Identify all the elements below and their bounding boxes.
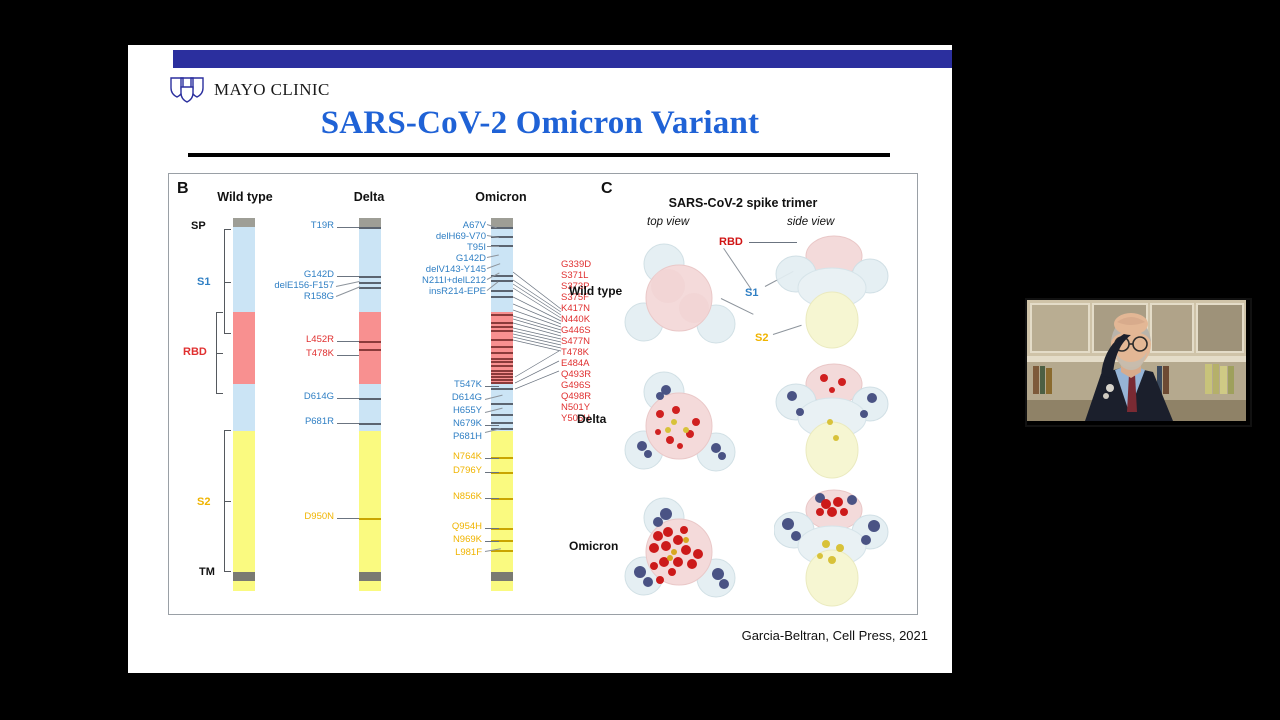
mayo-shield-icon [168,75,206,105]
segment-s1a [233,227,255,312]
mutation-tick [359,423,381,425]
delta-mutation-label: D950N [277,512,334,522]
mutation-tick [491,388,513,390]
mutation-tick [491,414,513,416]
mutation-tick [491,339,513,341]
mutation-tick [359,349,381,351]
mutation-tick [491,322,513,324]
omicron-spike-bar [491,218,513,618]
delta-mutation-label: delE156-F157 [241,281,334,291]
trimer-delta-side [774,360,889,482]
row-label-wildtype: Wild type [569,284,622,298]
bracket-s2 [224,430,225,572]
omicron-mutation-label: D796Y [422,466,482,476]
omicron-mutation-label: delV143-Y145 [391,265,486,275]
citation: Garcia-Beltran, Cell Press, 2021 [128,628,928,643]
delta-mutation-label: T478K [281,349,334,359]
omicron-mutation-label: H655Y [422,406,482,416]
bracket-s1 [224,229,225,334]
mutation-tick [491,290,513,292]
segment-tm [359,572,381,581]
mutation-tick [359,287,381,289]
domain-label-tm: TM [199,566,215,578]
webcam-video [1027,300,1246,421]
segment-rbd [233,312,255,384]
wildtype-spike-bar [233,218,255,618]
annotation-s1: S1 [745,287,758,299]
domain-label-s1: S1 [197,276,210,288]
segment-sp [359,218,381,227]
mutation-tick [359,341,381,343]
delta-mutation-label: D614G [279,392,334,402]
segment-ct [359,581,381,591]
mutation-tick [359,398,381,400]
panel-b-label: B [177,180,189,198]
mayo-clinic-logo: MAYO CLINIC [168,75,330,105]
trimer-wildtype-top [624,242,744,350]
mutation-tick [491,296,513,298]
delta-mutation-label: T19R [274,221,334,231]
page-title: SARS-CoV-2 Omicron Variant [128,105,952,142]
screen: MAYO CLINIC SARS-CoV-2 Omicron Variant B… [0,0,1280,720]
domain-label-sp: SP [191,220,206,232]
row-label-delta: Delta [577,412,606,426]
column-header-wildtype: Wild type [195,190,295,204]
mutation-tick [491,382,513,384]
omicron-mutation-label: T95I [414,243,486,253]
mutation-tick [491,422,513,424]
omicron-mutation-label: G142D [409,254,486,264]
mutation-tick [491,379,513,381]
delta-spike-bar [359,218,381,618]
view-label-top: top view [647,216,689,228]
omicron-mutation-label: N969K [422,535,482,545]
mutation-tick [491,280,513,282]
mayo-clinic-wordmark: MAYO CLINIC [214,80,330,100]
segment-s2 [233,431,255,572]
omicron-mutation-label: N211I+delL212 [379,276,486,286]
mutation-tick [359,518,381,520]
omicron-mutation-label: delH69-V70 [394,232,486,242]
mutation-tick [491,358,513,360]
bracket-rbd [216,312,217,394]
omicron-mutation-label: insR214-EPE [381,287,486,297]
mutation-tick [491,376,513,378]
segment-rbd [359,312,381,384]
mutation-tick [491,365,513,367]
mutation-tick [491,373,513,375]
segment-s2 [359,431,381,572]
segment-sp [233,218,255,227]
column-header-omicron: Omicron [451,190,551,204]
omicron-mutation-label: D614G [422,393,482,403]
panel-c: C SARS-CoV-2 spike trimer top view side … [569,174,917,614]
view-label-side: side view [787,216,834,228]
mutation-tick [491,361,513,363]
omicron-mutation-label: N679K [422,419,482,429]
segment-s1a [359,227,381,312]
segment-s1b [233,384,255,431]
trimer-delta-top [624,370,744,478]
title-underline [188,153,890,157]
delta-mutation-label: L452R [281,335,334,345]
mutation-tick [491,352,513,354]
cterm-leader-fan [513,349,561,429]
omicron-mutation-label: N856K [422,492,482,502]
delta-mutation-label: R158G [277,292,334,302]
trimer-omicron-side [774,486,889,610]
mutation-tick [491,326,513,328]
slide-accent-bar [173,50,952,68]
panel-c-title: SARS-CoV-2 spike trimer [569,196,917,210]
mutation-tick [491,314,513,316]
omicron-mutation-label: Q954H [422,522,482,532]
mutation-tick [491,370,513,372]
segment-tm [491,572,513,581]
annotation-s2: S2 [755,332,768,344]
domain-label-rbd: RBD [183,346,207,358]
trimer-omicron-top [624,496,744,606]
segment-tm [233,572,255,581]
figure-panel: B Wild type Delta Omicron SP S1 RBD [168,173,918,615]
segment-ct [233,581,255,591]
mutation-tick [491,403,513,405]
row-label-omicron: Omicron [569,539,618,553]
presenter-webcam[interactable] [1025,298,1252,427]
omicron-mutation-label: T547K [422,380,482,390]
column-header-delta: Delta [319,190,419,204]
mutation-tick [491,330,513,332]
mutation-tick [359,227,381,229]
omicron-mutation-label: N764K [422,452,482,462]
segment-ct [491,581,513,591]
delta-mutation-label: P681R [279,417,334,427]
rbd-leader-fan [513,264,563,354]
omicron-mutation-label: A67V [404,221,486,231]
segment-s1a [491,227,513,312]
trimer-wildtype-side [774,232,889,352]
delta-mutation-label: G142D [269,270,334,280]
omicron-mutation-label: P681H [422,432,482,442]
mutation-tick [359,282,381,284]
mutation-tick [359,276,381,278]
omicron-mutation-label: L981F [422,548,482,558]
mutation-tick [491,346,513,348]
domain-label-s2: S2 [197,496,210,508]
presentation-slide: MAYO CLINIC SARS-CoV-2 Omicron Variant B… [128,45,952,673]
